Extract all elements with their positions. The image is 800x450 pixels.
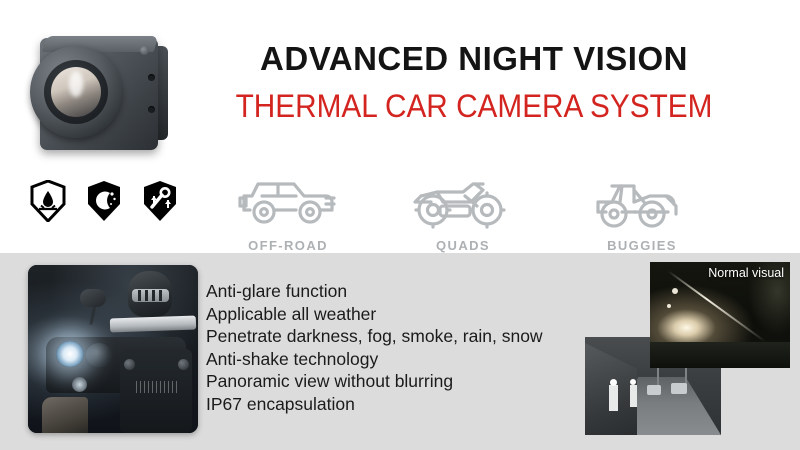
thermal-camera-product-image [22, 20, 182, 165]
vehicle-category-quads: QUADS [378, 170, 548, 253]
feature-item: Anti-shake technology [206, 348, 606, 371]
rider-arm [42, 397, 88, 433]
thermal-pedestrian-head [610, 379, 617, 386]
atv-headlight-right [86, 343, 112, 367]
feature-item: Panoramic view without blurring [206, 370, 606, 393]
normal-visual-photo: Normal visual [650, 262, 790, 368]
night-vision-shield-icon [86, 180, 122, 222]
atv-cargo-mesh [136, 381, 180, 393]
atv-rider-photo [28, 265, 198, 433]
thermal-pedestrian [630, 385, 637, 407]
headline-primary: ADVANCED NIGHT VISION [224, 40, 724, 78]
vehicle-label-quads: QUADS [378, 238, 548, 253]
feature-item: IP67 encapsulation [206, 393, 606, 416]
anti-shake-shield-icon [142, 180, 178, 222]
headline-secondary: THERMAL CAR CAMERA SYSTEM [234, 88, 714, 125]
vehicle-label-off-road: OFF-ROAD [203, 238, 373, 253]
atv-knob [124, 359, 135, 370]
camera-lens-inner-ring [44, 60, 108, 124]
thermal-pedestrian-head [630, 379, 636, 385]
thermal-pedestrian [609, 385, 618, 411]
normal-visual-label: Normal visual [708, 266, 784, 280]
visor-slot [138, 290, 141, 301]
normal-visual-ground [650, 342, 790, 368]
camera-port-upper [148, 74, 155, 81]
thermal-vehicle [671, 383, 687, 394]
feature-item: Applicable all weather [206, 303, 606, 326]
visor-slot [145, 290, 148, 301]
feature-badge-group [30, 180, 178, 222]
atv-front-rack [110, 316, 196, 333]
atv-knob [178, 359, 189, 370]
thermal-vehicle [647, 385, 661, 395]
feature-item: Penetrate darkness, fog, smoke, rain, sn… [206, 325, 606, 348]
waterproof-shield-icon [30, 180, 66, 222]
camera-lens-barrel [30, 46, 122, 138]
feature-item: Anti-glare function [206, 280, 606, 303]
vehicle-label-buggies: BUGGIES [557, 238, 727, 253]
feature-list: Anti-glare function Applicable all weath… [206, 280, 606, 415]
night-vision-banner: ADVANCED NIGHT VISION THERMAL CAR CAMERA… [0, 0, 800, 450]
atv-mirror [80, 289, 106, 307]
visor-slot [159, 290, 162, 301]
vehicle-category-buggies: BUGGIES [557, 170, 727, 253]
visor-slot [152, 290, 155, 301]
atv-fog-light [72, 377, 87, 392]
buggy-icon [557, 170, 727, 232]
off-road-suv-icon [203, 170, 373, 232]
quad-atv-icon [378, 170, 548, 232]
atv-headlight-left [56, 341, 84, 367]
camera-lens-highlight [69, 71, 83, 97]
light-dot [667, 304, 671, 308]
camera-screw [140, 46, 149, 55]
light-dot [672, 288, 678, 294]
camera-lens-glass [51, 67, 101, 117]
camera-port-lower [148, 106, 155, 113]
vehicle-category-off-road: OFF-ROAD [203, 170, 373, 253]
